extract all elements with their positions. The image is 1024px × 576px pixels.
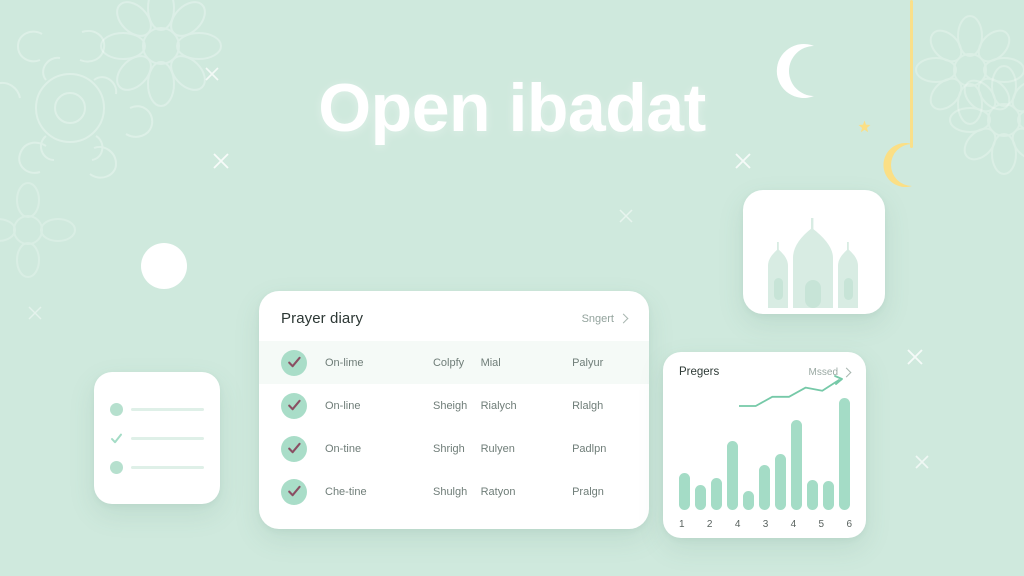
placeholder-line: [131, 466, 204, 469]
checklist-card[interactable]: [94, 372, 220, 504]
sparkle-x-icon: [732, 150, 754, 177]
prayer-diary-title: Prayer diary: [281, 310, 363, 327]
prayers-chart-card: Pregers Mssed 1243456: [663, 352, 866, 538]
bullet-dot-icon: [110, 403, 123, 416]
bar: [743, 491, 754, 510]
x-axis-tick-label: 6: [846, 519, 852, 530]
cell-col4: Rlalgh: [572, 400, 627, 412]
cell-col4: Padlpn: [572, 443, 627, 455]
bar: [727, 441, 738, 510]
table-row[interactable]: On-line Sheigh Rialych Rlalgh: [259, 384, 649, 427]
bar: [775, 454, 786, 510]
white-circle-decoration: [141, 243, 187, 289]
bar: [807, 480, 818, 510]
prayers-chart-title: Pregers: [679, 366, 719, 378]
check-circle-icon: [281, 479, 307, 505]
sparkle-x-icon: [210, 150, 232, 177]
sparkle-x-icon: [912, 452, 932, 477]
cell-col2: Colpfy: [433, 357, 481, 369]
check-icon: [110, 432, 123, 445]
cell-col4: Palyur: [572, 357, 627, 369]
prayer-diary-header: Prayer diary Sngert: [259, 291, 649, 341]
bullet-dot-icon: [110, 461, 123, 474]
hanging-lantern-moon-icon: [876, 140, 926, 190]
prayer-diary-card: Prayer diary Sngert On-lime Colpfy Mial …: [259, 291, 649, 529]
cell-col3: Mial: [481, 357, 573, 369]
cell-col2: Shulgh: [433, 486, 481, 498]
table-row[interactable]: Che-tine Shulgh Ratyon Pralgn: [259, 470, 649, 513]
cell-status: Che-tine: [325, 486, 433, 498]
poster-canvas: Open ibadat: [0, 0, 1024, 576]
bar: [823, 481, 834, 510]
x-axis-tick-label: 3: [763, 519, 769, 530]
bar: [679, 473, 690, 510]
list-item[interactable]: [110, 402, 204, 416]
x-axis-tick-label: 2: [707, 519, 713, 530]
mosque-card[interactable]: [743, 190, 885, 314]
cell-col3: Rulyen: [481, 443, 573, 455]
flower-outline-ornament: [0, 176, 90, 286]
bar: [759, 465, 770, 510]
placeholder-line: [131, 408, 204, 411]
x-axis-tick-label: 5: [819, 519, 825, 530]
star-icon: [858, 120, 871, 133]
table-row[interactable]: On-lime Colpfy Mial Palyur: [259, 341, 649, 384]
placeholder-line: [131, 437, 204, 440]
cell-col4: Pralgn: [572, 486, 627, 498]
cell-col2: Shrigh: [433, 443, 481, 455]
x-axis-tick-label: 4: [791, 519, 797, 530]
bar-chart-bars: [679, 398, 850, 510]
list-item[interactable]: [110, 431, 204, 445]
crescent-moon-icon: [770, 40, 832, 102]
bar: [711, 478, 722, 510]
sparkle-x-icon: [904, 346, 926, 373]
check-circle-icon: [281, 350, 307, 376]
prayer-diary-action-label: Sngert: [582, 313, 614, 325]
check-circle-icon: [281, 393, 307, 419]
mosque-icon: [755, 216, 873, 314]
table-row[interactable]: On-tine Shrigh Rulyen Padlpn: [259, 427, 649, 470]
cell-col2: Sheigh: [433, 400, 481, 412]
list-item[interactable]: [110, 460, 204, 474]
cell-status: On-tine: [325, 443, 433, 455]
bar: [839, 398, 850, 510]
bar: [791, 420, 802, 510]
x-axis-tick-label: 4: [735, 519, 741, 530]
cell-status: On-line: [325, 400, 433, 412]
lantern-string: [910, 0, 913, 148]
prayer-diary-action-link[interactable]: Sngert: [582, 313, 627, 325]
cell-col3: Ratyon: [481, 486, 573, 498]
sparkle-x-icon: [26, 304, 44, 327]
cell-status: On-lime: [325, 357, 433, 369]
bar-chart-x-axis: 1243456: [679, 519, 852, 530]
chevron-right-icon: [619, 314, 629, 324]
cell-col3: Rialych: [481, 400, 573, 412]
sparkle-x-icon: [616, 206, 636, 231]
x-axis-tick-label: 1: [679, 519, 685, 530]
bar: [695, 485, 706, 510]
check-circle-icon: [281, 436, 307, 462]
